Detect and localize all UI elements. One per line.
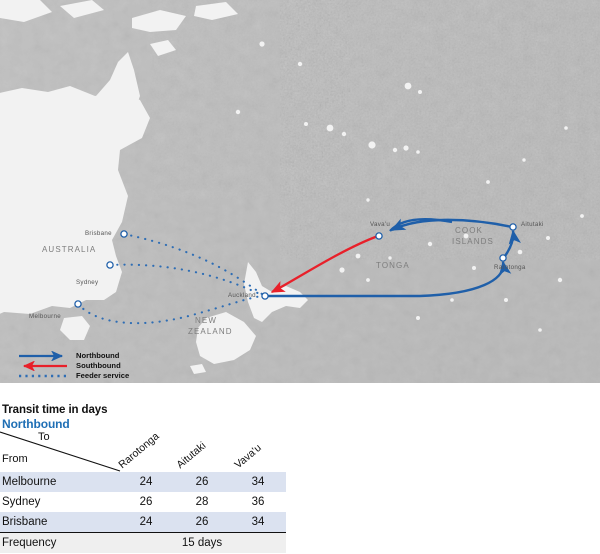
table-row: Brisbane 24 26 34 bbox=[0, 512, 286, 532]
legend-row-southbound: Southbound bbox=[18, 361, 188, 371]
cell-brisbane-rarotonga: 24 bbox=[118, 516, 174, 528]
map-graphic bbox=[0, 0, 600, 383]
northbound-arrow-icon bbox=[18, 351, 68, 361]
feeder-dotted-line-icon bbox=[18, 371, 68, 381]
table-axis-label-to: To bbox=[38, 431, 50, 443]
route-map: AUSTRALIA NEW ZEALAND TONGA COOK ISLANDS… bbox=[0, 0, 600, 383]
transit-time-title: Transit time in days bbox=[2, 404, 600, 416]
legend-label-feeder: Feeder service bbox=[76, 371, 129, 381]
cell-sydney-vavau: 36 bbox=[230, 496, 286, 508]
transit-time-section: Transit time in days Northbound To From … bbox=[0, 404, 600, 553]
southbound-arrow-icon bbox=[18, 361, 68, 371]
cell-melbourne-rarotonga: 24 bbox=[118, 476, 174, 488]
transit-time-table: To From Rarotonga Aitutaki Vava'u Melbou… bbox=[0, 431, 286, 553]
map-legend: Northbound Southbound bbox=[18, 351, 188, 381]
cell-brisbane-vavau: 34 bbox=[230, 516, 286, 528]
frequency-value: 15 days bbox=[118, 537, 286, 549]
cell-sydney-rarotonga: 26 bbox=[118, 496, 174, 508]
cell-brisbane-aitutaki: 26 bbox=[174, 516, 230, 528]
direction-heading: Northbound bbox=[2, 417, 600, 431]
frequency-label: Frequency bbox=[0, 537, 118, 549]
table-row-frequency: Frequency 15 days bbox=[0, 532, 286, 553]
cell-melbourne-vavau: 34 bbox=[230, 476, 286, 488]
cell-melbourne-aitutaki: 26 bbox=[174, 476, 230, 488]
legend-row-feeder: Feeder service bbox=[18, 371, 188, 381]
cell-sydney-aitutaki: 28 bbox=[174, 496, 230, 508]
table-corner-header: To From Rarotonga Aitutaki Vava'u bbox=[0, 431, 286, 472]
table-row: Melbourne 24 26 34 bbox=[0, 472, 286, 492]
row-origin-melbourne: Melbourne bbox=[0, 476, 118, 488]
row-origin-brisbane: Brisbane bbox=[0, 516, 118, 528]
legend-row-northbound: Northbound bbox=[18, 351, 188, 361]
legend-label-southbound: Southbound bbox=[76, 361, 121, 371]
table-row: Sydney 26 28 36 bbox=[0, 492, 286, 512]
table-axis-label-from: From bbox=[2, 453, 28, 465]
row-origin-sydney: Sydney bbox=[0, 496, 118, 508]
legend-label-northbound: Northbound bbox=[76, 351, 119, 361]
